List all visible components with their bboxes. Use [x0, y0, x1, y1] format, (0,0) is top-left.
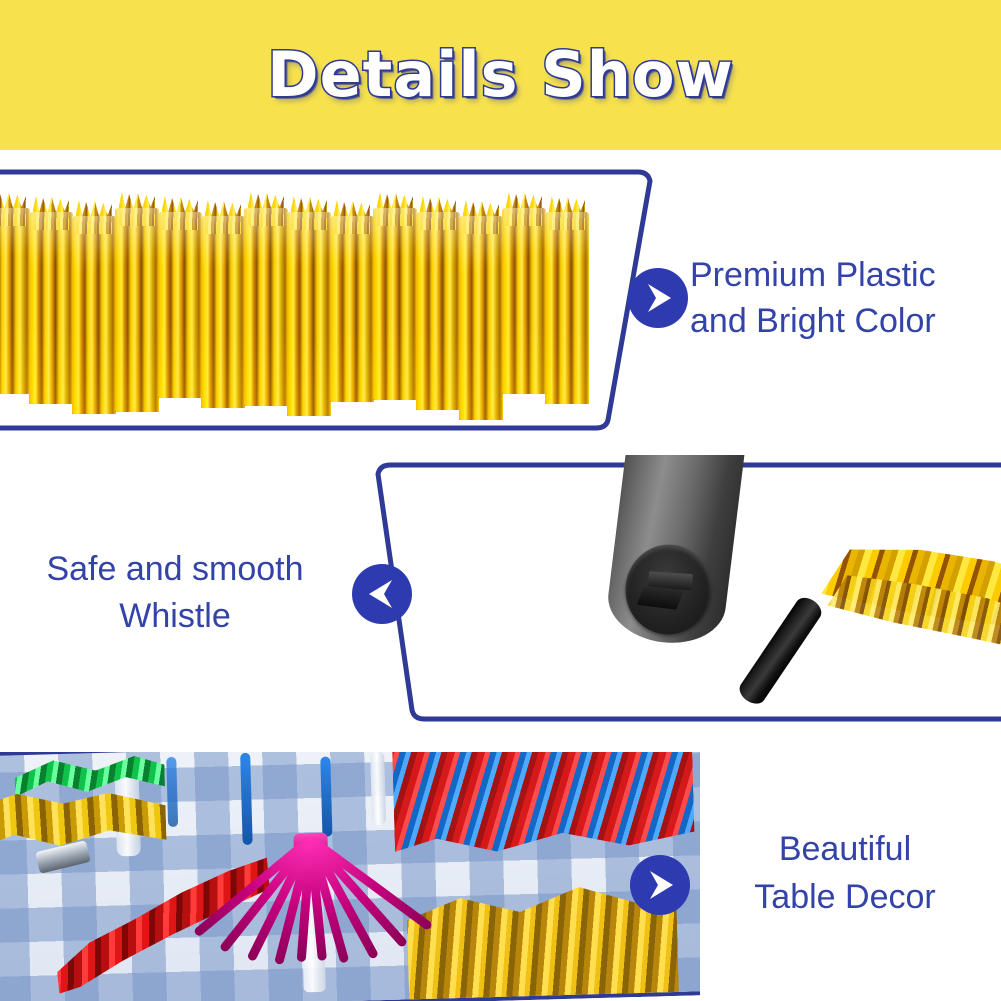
section-1-callout-frame [0, 170, 700, 432]
section-premium-plastic [0, 170, 690, 428]
section-1-caption-line-2: and Bright Color [690, 298, 990, 344]
chevron-left-icon [362, 574, 402, 614]
gold-foil-tassel-highlight [816, 497, 1001, 723]
silver-blower-cap [35, 840, 91, 874]
blue-blower-stick-1 [240, 753, 253, 845]
pink-foil-tassel [221, 837, 405, 1001]
red-blue-foil-tassel-cluster [392, 752, 695, 857]
section-2-caption-line-1: Safe and smooth [10, 546, 340, 593]
chevron-right-icon [640, 865, 680, 905]
chevron-left-icon-badge-2 [352, 564, 412, 624]
black-blower-handle [735, 593, 825, 708]
section-2-caption-line-2: Whistle [10, 593, 340, 640]
section-table-decor [0, 752, 700, 1001]
section-2-caption: Safe and smooth Whistle [10, 546, 340, 640]
chevron-right-icon-badge-1 [628, 268, 688, 328]
section-1-caption: Premium Plastic and Bright Color [690, 252, 990, 344]
page-title: Details Show [267, 44, 734, 106]
whistle-tube [603, 455, 748, 649]
section-3-caption-line-1: Beautiful [700, 826, 990, 874]
whistle-photo [560, 455, 1001, 723]
white-blower-stick-2 [370, 752, 386, 825]
blue-blower-stick-3 [166, 757, 178, 827]
chevron-right-icon [638, 278, 678, 318]
whistle-mouth-opening [620, 540, 716, 640]
chevron-right-icon-badge-3 [630, 855, 690, 915]
details-show-infographic: Details Show Premium Plastic and Bright … [0, 0, 1001, 1001]
whistle-slot-shadow [636, 586, 684, 610]
section-3-caption: Beautiful Table Decor [700, 826, 990, 921]
party-table-photo [0, 752, 700, 1001]
section-1-caption-line-1: Premium Plastic [690, 252, 990, 298]
section-3-caption-line-2: Table Decor [700, 874, 990, 922]
blue-blower-stick-2 [320, 757, 332, 837]
header-banner: Details Show [0, 0, 1001, 150]
